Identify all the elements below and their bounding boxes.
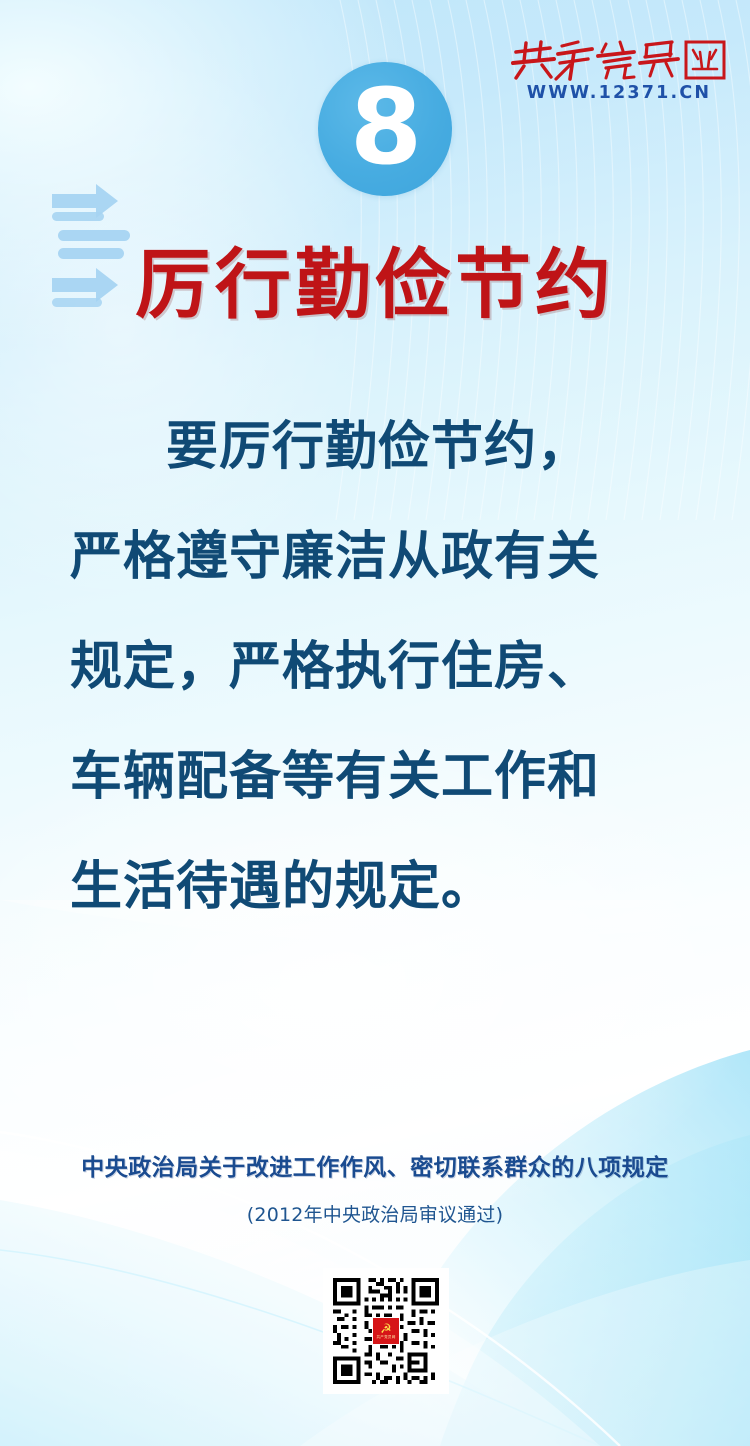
footer-block: 中央政治局关于改进工作作风、密切联系群众的八项规定 (2012年中央政治局审议通… — [0, 1148, 750, 1227]
footer-title: 中央政治局关于改进工作作风、密切联系群众的八项规定 — [0, 1148, 750, 1182]
body-line: 要厉行勤俭节约， — [70, 392, 680, 502]
site-logo[interactable]: WWW.12371.CN — [510, 38, 728, 103]
qr-canvas: ☭ 共产党员网 — [329, 1274, 443, 1388]
hammer-sickle-icon: ☭ — [380, 1322, 392, 1335]
logo-url[interactable]: WWW.12371.CN — [510, 83, 728, 103]
qr-center-emblem: ☭ 共产党员网 — [372, 1317, 400, 1345]
step-number-badge: 8 — [318, 62, 452, 196]
poster-canvas: 8 — [0, 0, 750, 1446]
footer-subtitle: (2012年中央政治局审议通过) — [0, 1200, 750, 1227]
body-line: 规定，严格执行住房、 — [70, 612, 680, 722]
logo-wordmark-icon — [510, 38, 728, 82]
body-line: 车辆配备等有关工作和 — [70, 722, 680, 832]
step-number-value: 8 — [350, 75, 420, 179]
body-line: 严格遵守廉洁从政有关 — [70, 502, 680, 612]
body-paragraph: 要厉行勤俭节约， 严格遵守廉洁从政有关 规定，严格执行住房、 车辆配备等有关工作… — [70, 392, 680, 942]
logo-boxed-char — [686, 42, 724, 78]
body-line: 生活待遇的规定。 — [70, 832, 680, 942]
qr-emblem-caption: 共产党员网 — [377, 1335, 396, 1340]
qr-code[interactable]: ☭ 共产党员网 — [323, 1268, 449, 1394]
headline-title: 厉行勤俭节约 — [0, 247, 750, 323]
